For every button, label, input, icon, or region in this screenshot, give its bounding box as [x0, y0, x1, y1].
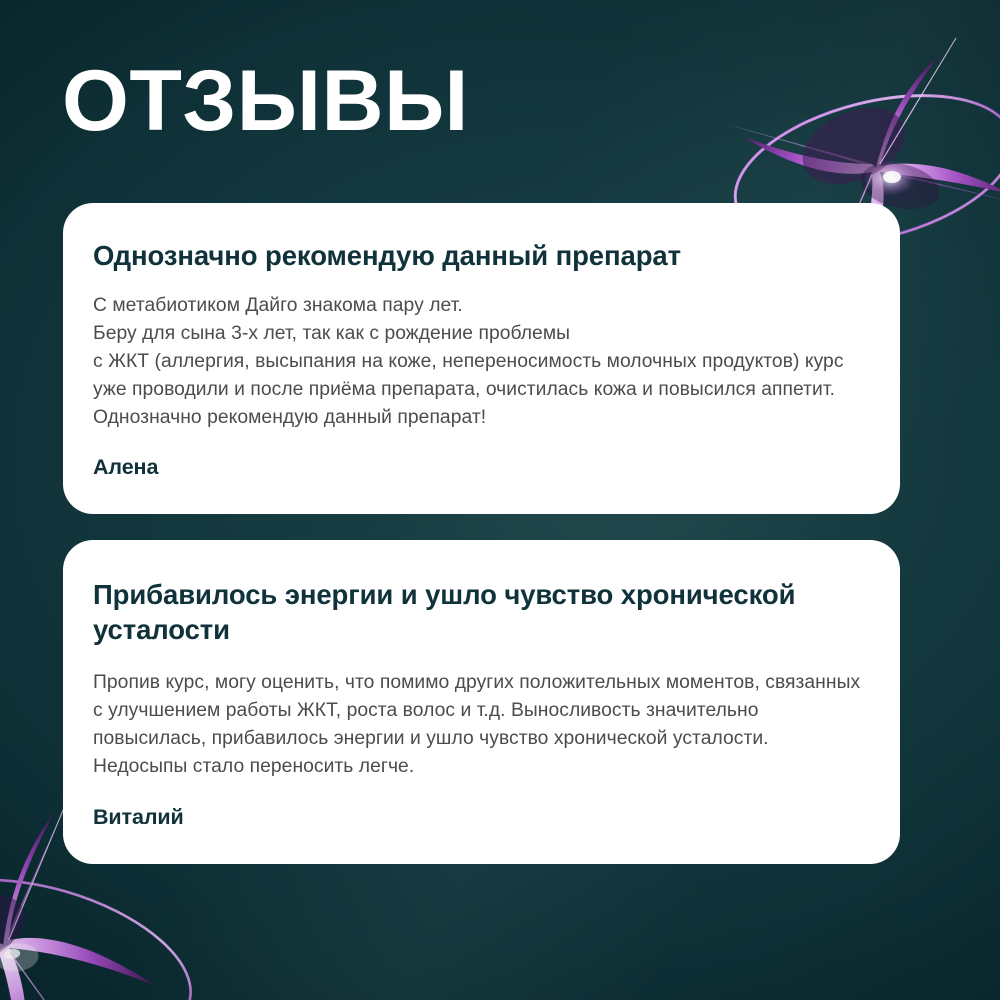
- review-title: Прибавилось энергии и ушло чувство хрони…: [93, 578, 862, 647]
- reviews-list: Однозначно рекомендую данный препарат С …: [63, 203, 900, 864]
- review-body: С метабиотиком Дайго знакома пару лет. Б…: [93, 292, 862, 432]
- review-card: Однозначно рекомендую данный препарат С …: [63, 203, 900, 514]
- review-author: Алена: [93, 455, 862, 480]
- page-title: ОТЗЫВЫ: [62, 57, 469, 146]
- review-card: Прибавилось энергии и ушло чувство хрони…: [63, 540, 900, 863]
- review-title: Однозначно рекомендую данный препарат: [93, 239, 862, 274]
- review-body: Пропив курс, могу оценить, что помимо др…: [93, 669, 862, 781]
- review-author: Виталий: [93, 805, 862, 830]
- slide-canvas: ОТЗЫВЫ Однозначно рекомендую данный преп…: [0, 0, 1000, 1000]
